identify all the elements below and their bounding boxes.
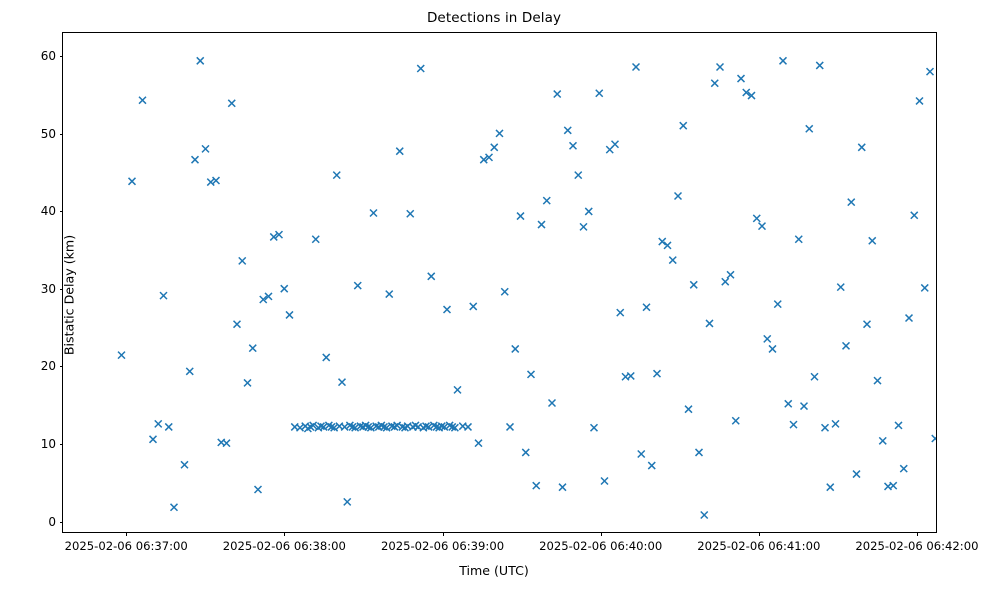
- scatter-point: [858, 144, 865, 151]
- y-tick-label: 50: [41, 127, 56, 141]
- scatter-point: [118, 352, 125, 359]
- scatter-point: [864, 321, 871, 328]
- scatter-point: [596, 90, 603, 97]
- scatter-point: [407, 210, 414, 217]
- scatter-point: [769, 345, 776, 352]
- scatter-point: [507, 423, 514, 430]
- x-tick-mark: [601, 532, 602, 536]
- scatter-point: [811, 373, 818, 380]
- x-tick-mark: [443, 532, 444, 536]
- scatter-point: [580, 223, 587, 230]
- scatter-point: [900, 465, 907, 472]
- scatter-point: [627, 372, 634, 379]
- scatter-point: [554, 91, 561, 98]
- x-tick-mark: [917, 532, 918, 536]
- scatter-point: [827, 484, 834, 491]
- scatter-point: [517, 213, 524, 220]
- scatter-point: [475, 440, 482, 447]
- scatter-point: [753, 215, 760, 222]
- scatter-point: [932, 435, 936, 442]
- scatter-point: [690, 281, 697, 288]
- scatter-point: [207, 179, 214, 186]
- y-tick-label: 40: [41, 204, 56, 218]
- scatter-point: [538, 221, 545, 228]
- scatter-point: [150, 436, 157, 443]
- scatter-point: [638, 450, 645, 457]
- scatter-point: [155, 420, 162, 427]
- scatter-point: [648, 462, 655, 469]
- scatter-point: [785, 400, 792, 407]
- scatter-point: [675, 193, 682, 200]
- scatter-point: [129, 178, 136, 185]
- scatter-point: [801, 403, 808, 410]
- scatter-point: [234, 321, 241, 328]
- scatter-point: [512, 345, 519, 352]
- scatter-point: [549, 400, 556, 407]
- x-axis-label: Time (UTC): [0, 563, 988, 578]
- scatter-point: [822, 424, 829, 431]
- scatter-point: [738, 75, 745, 82]
- scatter-point: [559, 484, 566, 491]
- scatter-point: [428, 273, 435, 280]
- scatter-point: [501, 288, 508, 295]
- scatter-point: [759, 223, 766, 230]
- y-axis-label: Bistatic Delay (km): [62, 235, 77, 355]
- scatter-point: [575, 172, 582, 179]
- scatter-point: [585, 208, 592, 215]
- scatter-point: [286, 311, 293, 318]
- y-tick-label: 60: [41, 49, 56, 63]
- x-tick-label: 2025-02-06 06:39:00: [381, 539, 504, 553]
- scatter-point: [570, 142, 577, 149]
- scatter-point: [890, 482, 897, 489]
- scatter-point: [281, 285, 288, 292]
- scatter-markers: [63, 33, 936, 532]
- scatter-point: [790, 421, 797, 428]
- scatter-point: [312, 236, 319, 243]
- scatter-point: [654, 370, 661, 377]
- scatter-point: [181, 461, 188, 468]
- scatter-plot-area: [63, 33, 936, 532]
- scatter-point: [543, 197, 550, 204]
- scatter-point: [869, 237, 876, 244]
- scatter-point: [832, 420, 839, 427]
- x-tick-label: 2025-02-06 06:40:00: [539, 539, 662, 553]
- scatter-point: [528, 371, 535, 378]
- scatter-point: [895, 422, 902, 429]
- scatter-point: [160, 292, 167, 299]
- scatter-point: [680, 122, 687, 129]
- scatter-point: [244, 379, 251, 386]
- y-tick-mark: [60, 56, 64, 57]
- scatter-point: [643, 304, 650, 311]
- scatter-point: [202, 145, 209, 152]
- x-tick-mark: [126, 532, 127, 536]
- scatter-point: [795, 236, 802, 243]
- scatter-point: [848, 199, 855, 206]
- scatter-point: [297, 424, 304, 431]
- scatter-point: [339, 379, 346, 386]
- scatter-point: [921, 284, 928, 291]
- scatter-point: [344, 498, 351, 505]
- scatter-point: [774, 301, 781, 308]
- x-tick-label: 2025-02-06 06:41:00: [697, 539, 820, 553]
- scatter-point: [906, 315, 913, 322]
- scatter-point: [323, 354, 330, 361]
- scatter-point: [186, 368, 193, 375]
- y-tick-label: 20: [41, 359, 56, 373]
- scatter-point: [444, 306, 451, 313]
- scatter-point: [197, 57, 204, 64]
- scatter-point: [764, 335, 771, 342]
- scatter-point: [564, 127, 571, 134]
- scatter-point: [685, 406, 692, 413]
- scatter-point: [139, 97, 146, 104]
- scatter-point: [717, 64, 724, 71]
- plot-axes: 0102030405060 2025-02-06 06:37:002025-02…: [62, 32, 937, 533]
- scatter-point: [853, 471, 860, 478]
- scatter-point: [533, 482, 540, 489]
- scatter-point: [228, 100, 235, 107]
- scatter-point: [249, 345, 256, 352]
- scatter-point: [213, 177, 220, 184]
- scatter-point: [727, 271, 734, 278]
- scatter-point: [491, 144, 498, 151]
- page-title: Detections in Delay: [0, 10, 988, 26]
- scatter-point: [879, 437, 886, 444]
- scatter-point: [171, 504, 178, 511]
- scatter-point: [396, 148, 403, 155]
- scatter-point: [806, 125, 813, 132]
- matplotlib-figure: Detections in Delay 0102030405060 2025-0…: [0, 0, 988, 590]
- scatter-point: [633, 64, 640, 71]
- x-tick-label: 2025-02-06 06:42:00: [855, 539, 978, 553]
- scatter-point: [470, 303, 477, 310]
- y-tick-label: 10: [41, 437, 56, 451]
- scatter-point: [780, 57, 787, 64]
- scatter-point: [255, 486, 262, 493]
- scatter-point: [711, 80, 718, 87]
- scatter-point: [370, 209, 377, 216]
- scatter-point: [612, 141, 619, 148]
- scatter-point: [454, 386, 461, 393]
- y-tick-label: 30: [41, 282, 56, 296]
- scatter-point: [837, 284, 844, 291]
- scatter-point: [386, 291, 393, 298]
- scatter-point: [816, 62, 823, 69]
- scatter-point: [165, 423, 172, 430]
- scatter-point: [927, 68, 934, 75]
- scatter-point: [601, 478, 608, 485]
- scatter-point: [239, 257, 246, 264]
- y-tick-mark: [60, 211, 64, 212]
- y-tick-mark: [60, 366, 64, 367]
- y-tick-mark: [60, 522, 64, 523]
- scatter-point: [465, 423, 472, 430]
- scatter-point: [192, 156, 199, 163]
- scatter-point: [417, 65, 424, 72]
- scatter-point: [732, 417, 739, 424]
- scatter-point: [496, 130, 503, 137]
- y-tick-label: 0: [48, 515, 56, 529]
- x-tick-mark: [284, 532, 285, 536]
- scatter-point: [722, 278, 729, 285]
- scatter-point: [843, 342, 850, 349]
- x-tick-mark: [759, 532, 760, 536]
- scatter-point: [223, 440, 230, 447]
- scatter-point: [591, 424, 598, 431]
- scatter-point: [916, 97, 923, 104]
- scatter-point: [696, 449, 703, 456]
- scatter-point: [706, 320, 713, 327]
- scatter-point: [701, 512, 708, 519]
- scatter-point: [354, 282, 361, 289]
- x-tick-label: 2025-02-06 06:38:00: [223, 539, 346, 553]
- x-tick-label: 2025-02-06 06:37:00: [65, 539, 188, 553]
- y-tick-mark: [60, 444, 64, 445]
- scatter-point: [669, 257, 676, 264]
- scatter-point: [341, 423, 348, 430]
- scatter-point: [394, 422, 401, 429]
- y-tick-mark: [60, 134, 64, 135]
- scatter-point: [617, 309, 624, 316]
- scatter-point: [522, 449, 529, 456]
- scatter-point: [333, 172, 340, 179]
- scatter-point: [874, 377, 881, 384]
- scatter-point: [911, 212, 918, 219]
